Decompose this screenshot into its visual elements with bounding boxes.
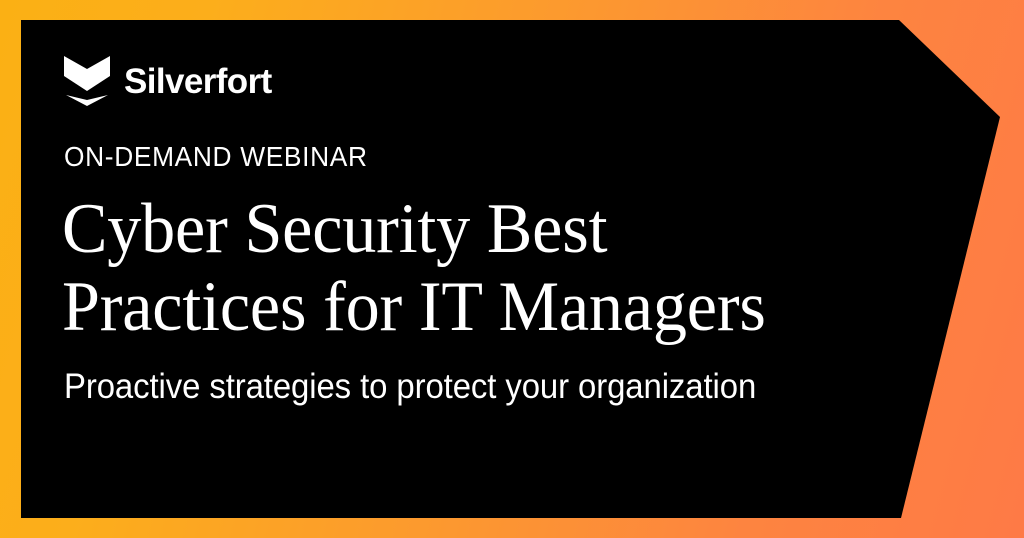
eyebrow-label: ON-DEMAND WEBINAR	[64, 140, 368, 174]
silverfort-wordmark: Silverfort	[124, 64, 272, 99]
banner-content: Silverfort ON-DEMAND WEBINAR Cyber Secur…	[0, 0, 1024, 538]
headline-line-2: Practices for IT Managers	[62, 268, 888, 346]
silverfort-logo[interactable]: Silverfort	[64, 56, 272, 106]
silverfort-chevron-mark-icon	[64, 56, 110, 106]
subtitle-text: Proactive strategies to protect your org…	[64, 366, 756, 408]
webinar-promo-banner: Silverfort ON-DEMAND WEBINAR Cyber Secur…	[0, 0, 1024, 538]
page-title: Cyber Security Best Practices for IT Man…	[62, 190, 922, 346]
headline-line-1: Cyber Security Best	[62, 190, 888, 268]
